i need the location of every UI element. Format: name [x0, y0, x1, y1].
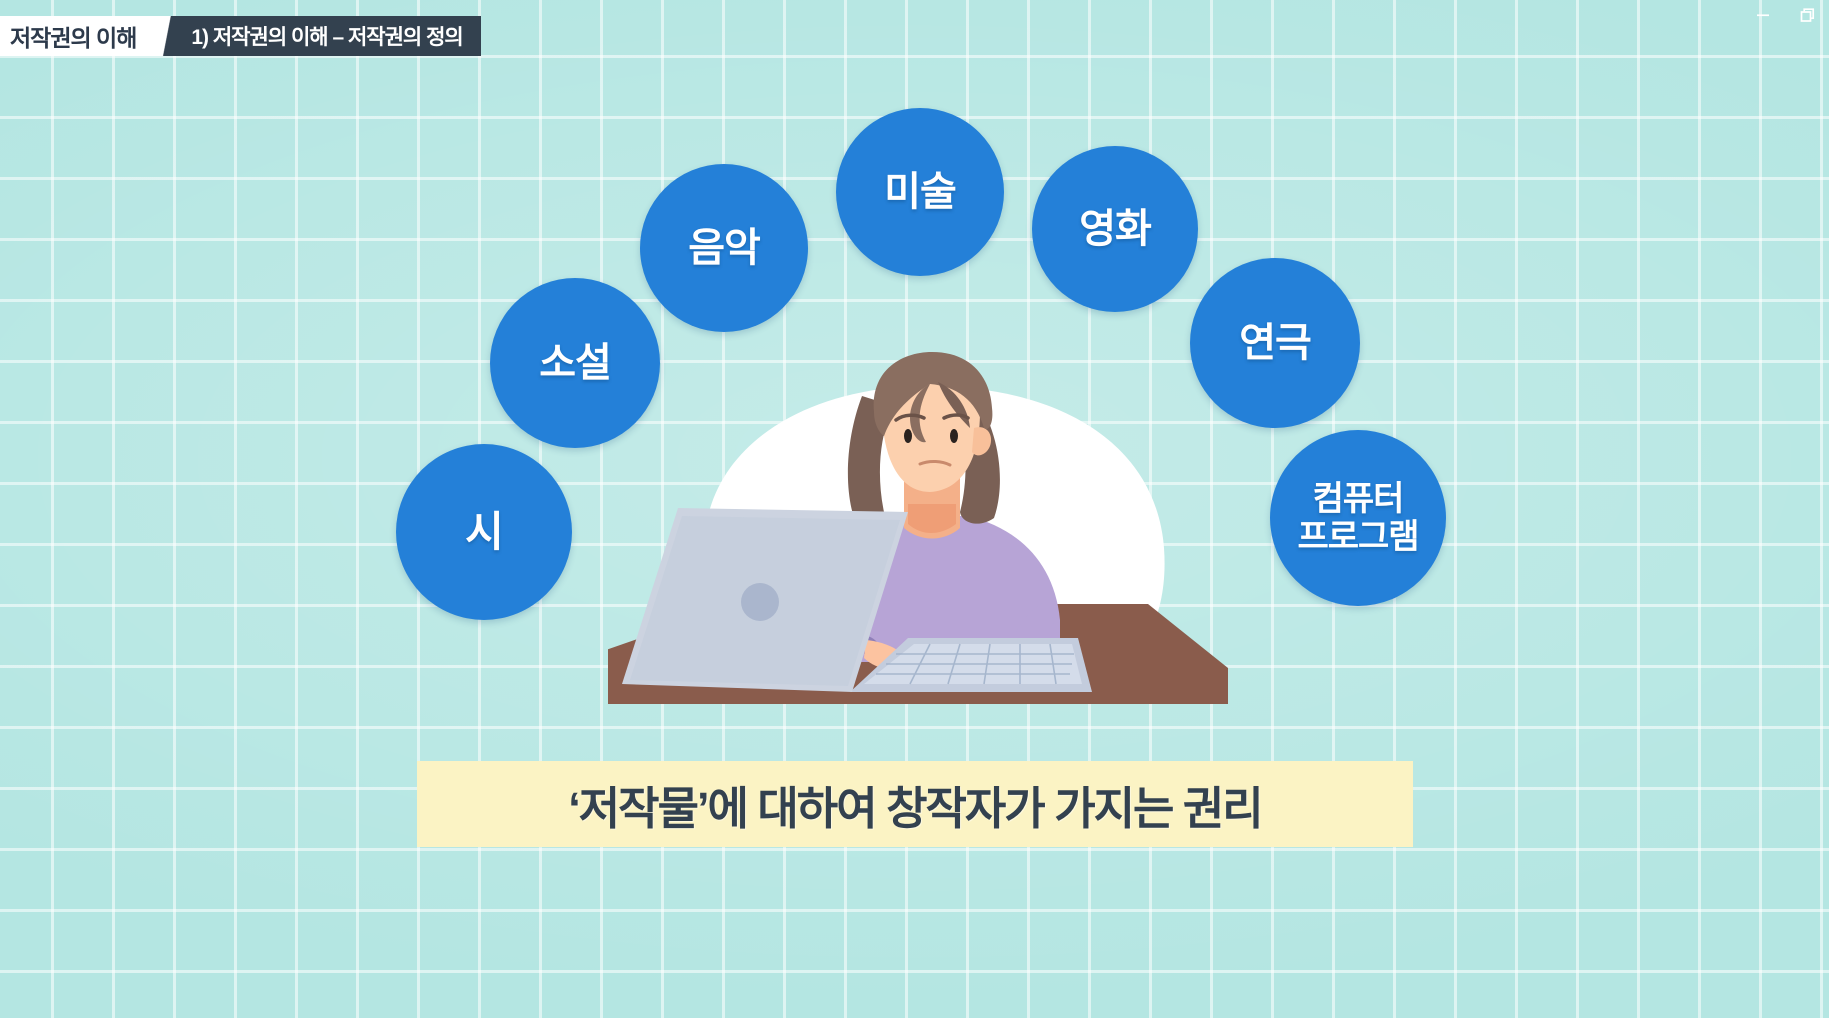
chapter-tab[interactable]: 저작권의 이해	[0, 16, 152, 56]
bubble-film[interactable]: 영화	[1032, 146, 1198, 312]
bubble-label: 미술	[878, 170, 962, 215]
bubble-label: 음악	[682, 226, 766, 271]
slide-canvas: 저작권의 이해 1) 저작권의 이해 – 저작권의 정의 시 소설 음악 미술 …	[0, 0, 1829, 1018]
restore-icon[interactable]	[1785, 1, 1829, 29]
bubble-poetry[interactable]: 시	[396, 444, 572, 620]
bubble-label: 소설	[533, 341, 617, 386]
chapter-label: 저작권의 이해	[10, 19, 136, 53]
section-label: 1) 저작권의 이해 – 저작권의 정의	[191, 21, 462, 51]
bubble-label: 영화	[1073, 207, 1157, 252]
bubble-computer-program[interactable]: 컴퓨터 프로그램	[1270, 430, 1446, 606]
section-tab[interactable]: 1) 저작권의 이해 – 저작권의 정의	[185, 16, 480, 56]
bubble-label: 시	[459, 508, 509, 555]
breadcrumb: 저작권의 이해 1) 저작권의 이해 – 저작권의 정의	[0, 16, 481, 56]
window-controls	[1741, 0, 1829, 30]
woman-typing-on-laptop-illustration	[608, 352, 1276, 772]
caption-banner: ‘저작물’에 대하여 창작자가 가지는 권리	[417, 761, 1413, 847]
minimize-icon[interactable]	[1741, 1, 1785, 29]
bubble-fine-art[interactable]: 미술	[836, 108, 1004, 276]
bubble-label: 컴퓨터 프로그램	[1291, 480, 1424, 556]
caption-text: ‘저작물’에 대하여 창작자가 가지는 권리	[568, 772, 1261, 837]
bubble-music[interactable]: 음악	[640, 164, 808, 332]
tab-slant-divider	[152, 16, 186, 56]
